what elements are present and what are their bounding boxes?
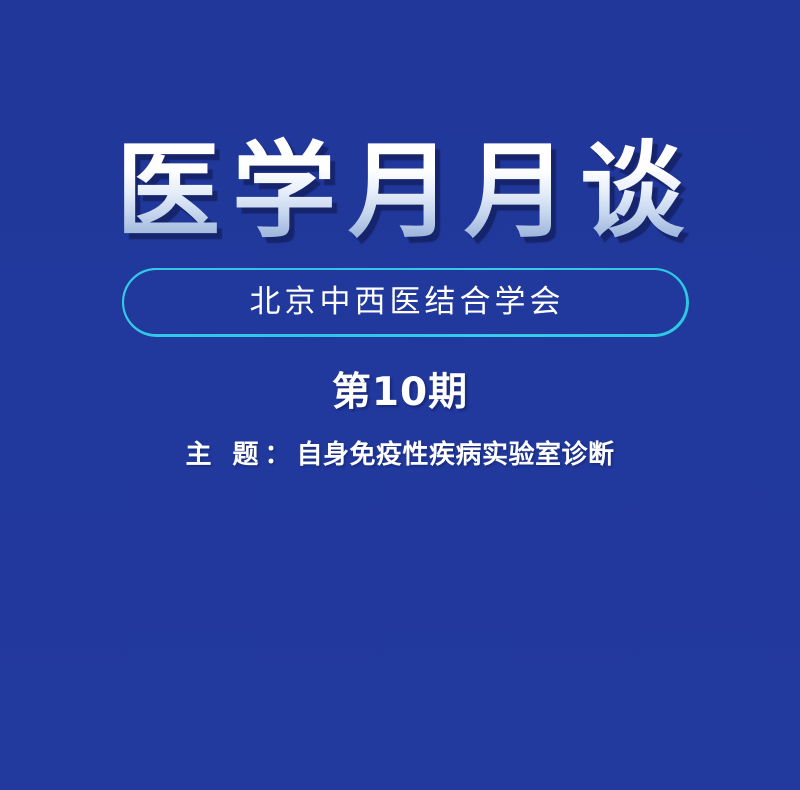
- organization-name: 北京中西医结合学会: [246, 285, 565, 319]
- theme-value: 自身免疫性疾病实验室诊断: [297, 440, 615, 470]
- poster-title: 医学月月谈 医学月月谈: [0, 126, 800, 256]
- organization-pill: 北京中西医结合学会: [122, 268, 688, 336]
- poster-title-text: 医学月月谈: [0, 135, 800, 247]
- theme-label: 主 题：: [185, 440, 296, 470]
- issue-number: 第10期: [0, 370, 800, 416]
- poster-canvas: 医学月月谈 医学月月谈 北京中西医结合学会 第10期 主 题：自身免疫性疾病实验…: [0, 0, 800, 790]
- theme-line: 主 题：自身免疫性疾病实验室诊断: [0, 438, 800, 472]
